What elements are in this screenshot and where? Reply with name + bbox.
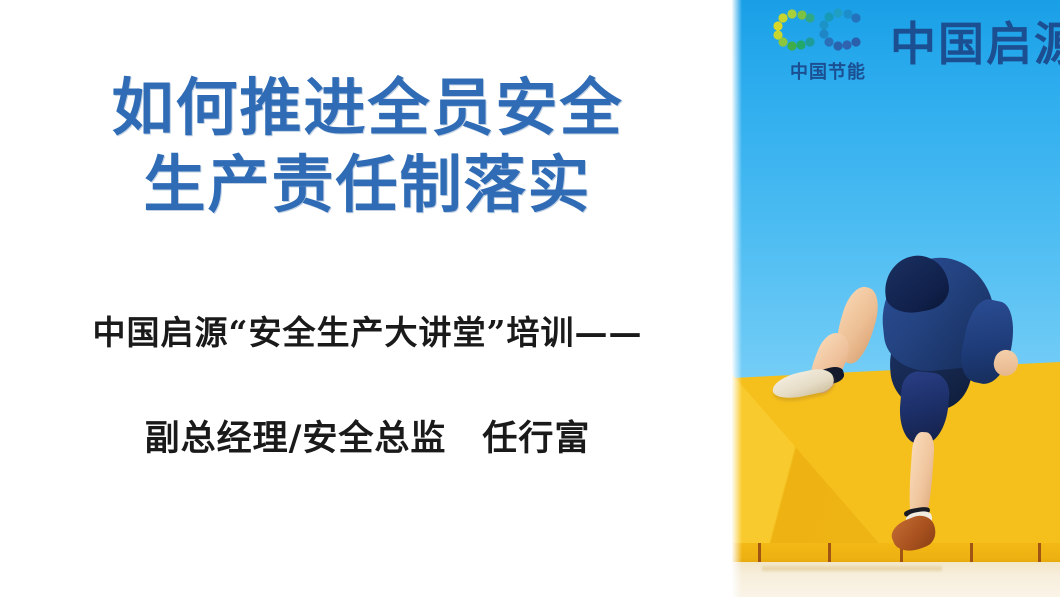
presenter-line: 副总经理/安全总监 任行富 [0, 410, 735, 461]
logo-company-small: 中国节能 [772, 58, 884, 84]
text-column: 如何推进全员安全 生产责任制落实 中国启源“安全生产大讲堂”培训—— 副总经理/… [0, 0, 735, 597]
white-sneaker [770, 366, 836, 402]
cecep-double-c-dots-icon [772, 6, 884, 57]
cover-photo-panel: 中国节能 中国启源 [732, 0, 1060, 597]
slide-subtitle: 中国启源“安全生产大讲堂”培训—— [0, 306, 735, 354]
presentation-slide: 如何推进全员安全 生产责任制落实 中国启源“安全生产大讲堂”培训—— 副总经理/… [0, 0, 1060, 597]
logo-company-large: 中国启源 [890, 8, 1060, 74]
title-line-2: 生产责任制落实 [0, 145, 735, 224]
slide-title: 如何推进全员安全 生产责任制落实 [0, 68, 735, 225]
brown-sneaker [888, 511, 941, 557]
cecep-logo: 中国节能 [772, 6, 884, 84]
title-line-1: 如何推进全员安全 [0, 68, 735, 147]
logo-lockup: 中国节能 中国启源 [732, 0, 1060, 100]
